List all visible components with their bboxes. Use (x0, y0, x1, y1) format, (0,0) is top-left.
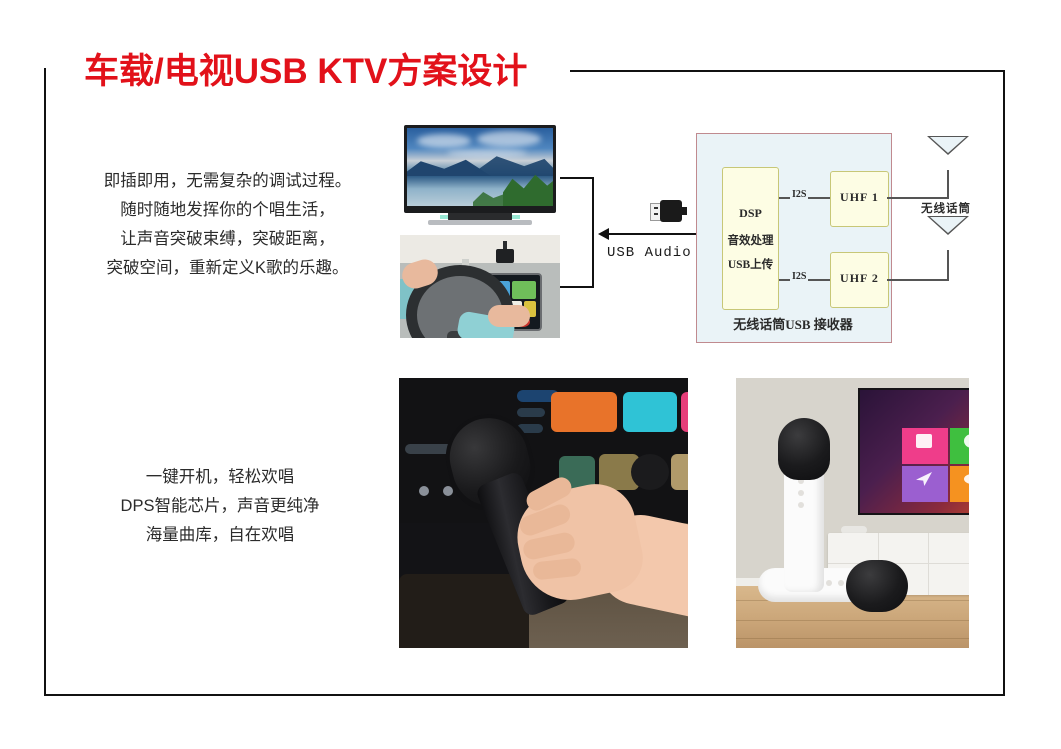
usb-plug-body (660, 200, 682, 222)
tv-bezel (404, 125, 556, 213)
frame-bottom-border (44, 694, 1005, 696)
cabinet-seam (928, 533, 929, 595)
feature-line: 随时随地发挥你的个唱生活， (70, 196, 385, 225)
wireless-microphone-label: 无线话筒 (921, 200, 971, 216)
mic-button (826, 580, 832, 586)
television-photo (400, 123, 560, 231)
mic-button (798, 490, 804, 496)
connector-line-usb (605, 233, 696, 235)
frame-right-border (1003, 70, 1005, 696)
car-dashboard-photo (400, 235, 560, 338)
usb-plug-tip (681, 207, 687, 215)
uhf1-antenna-wire (887, 197, 949, 199)
frame-left-border (44, 68, 46, 696)
cabinet-seam (828, 563, 969, 564)
antenna-triangle (927, 216, 969, 235)
uhf1-block: UHF 1 (830, 171, 889, 227)
antenna-triangle-inner (930, 137, 966, 153)
phone-mount (496, 249, 514, 263)
tv-base (428, 220, 532, 225)
microphone-standing (784, 462, 824, 592)
screen-tile (517, 408, 545, 417)
frame-top-border (570, 70, 1005, 72)
cloud-shape (477, 131, 541, 147)
usb-audio-label: USB Audio (607, 245, 692, 261)
i2s-label-bottom: I2S (790, 271, 808, 282)
screen-tile (681, 392, 688, 432)
screen-tile (443, 486, 453, 496)
usb-pin (654, 213, 658, 215)
dsp-title: DSP (723, 206, 778, 221)
i2s-label-top: I2S (790, 189, 808, 200)
dsp-usb-upload-label: USB上传 (723, 256, 778, 272)
uhf1-antenna-stem (947, 170, 949, 198)
wall-mounted-tv (858, 388, 969, 515)
feature-line: 让声音突破束缚，突破距离， (70, 225, 385, 254)
vegetation-shape (503, 172, 553, 206)
feature-line: 海量曲库，自在欢唱 (70, 521, 370, 550)
connector-line-top (560, 177, 594, 179)
center-console (399, 574, 529, 648)
uhf2-antenna-wire (887, 279, 949, 281)
cloud-shape (447, 148, 527, 158)
feature-text-bottom: 一键开机，轻松欢唱 DPS智能芯片，声音更纯净 海量曲库，自在欢唱 (70, 463, 370, 550)
uhf1-label: UHF 1 (831, 190, 888, 205)
feature-line: 即插即用，无需复杂的调试过程。 (70, 167, 385, 196)
dsp-block: DSP 音效处理 USB上传 (722, 167, 779, 310)
microphone-lying-foam-head (846, 560, 908, 612)
tv-tile-orange (950, 466, 969, 502)
screen-tile (512, 281, 536, 299)
antenna-triangle-inner (930, 217, 966, 233)
living-room-microphones-photo (736, 378, 969, 648)
uhf2-block: UHF 2 (830, 252, 889, 308)
screen-tile (419, 486, 429, 496)
antenna-triangle (927, 136, 969, 155)
tv-tile-icon (916, 434, 932, 448)
uhf2-antenna-stem (947, 250, 949, 280)
microphone-in-car-photo (399, 378, 688, 648)
feature-line: DPS智能芯片，声音更纯净 (70, 492, 370, 521)
page-title: 车载/电视USB KTV方案设计 (84, 43, 527, 94)
mic-button (798, 502, 804, 508)
tv-screen (407, 128, 553, 206)
left-arrow-icon (598, 228, 609, 240)
feature-text-top: 即插即用，无需复杂的调试过程。 随时随地发挥你的个唱生活， 让声音突破束缚，突破… (70, 167, 385, 283)
cloud-shape (417, 134, 471, 148)
uhf2-label: UHF 2 (831, 271, 888, 286)
diagram-caption: 无线话筒USB 接收器 (696, 314, 890, 333)
microphone-standing-foam-head (778, 418, 830, 480)
connector-line-vertical (592, 177, 594, 288)
feature-line: 突破空间，重新定义K歌的乐趣。 (70, 254, 385, 283)
vegetation-shape (473, 186, 507, 206)
mic-button (838, 580, 844, 586)
screen-tile (551, 392, 617, 432)
floor-plank-line (736, 620, 969, 621)
slide: 车载/电视USB KTV方案设计 即插即用，无需复杂的调试过程。 随时随地发挥你… (0, 0, 1061, 749)
usb-plug-icon (650, 200, 684, 222)
screen-tile (623, 392, 677, 432)
feature-line: 一键开机，轻松欢唱 (70, 463, 370, 492)
floor-plank-line (736, 638, 969, 639)
dsp-audio-processing-label: 音效处理 (723, 232, 778, 248)
connector-line-bottom (560, 286, 594, 288)
usb-pin (654, 207, 658, 209)
screen-tile (631, 454, 669, 490)
passenger-hand (488, 305, 530, 327)
screen-tile (671, 454, 688, 490)
